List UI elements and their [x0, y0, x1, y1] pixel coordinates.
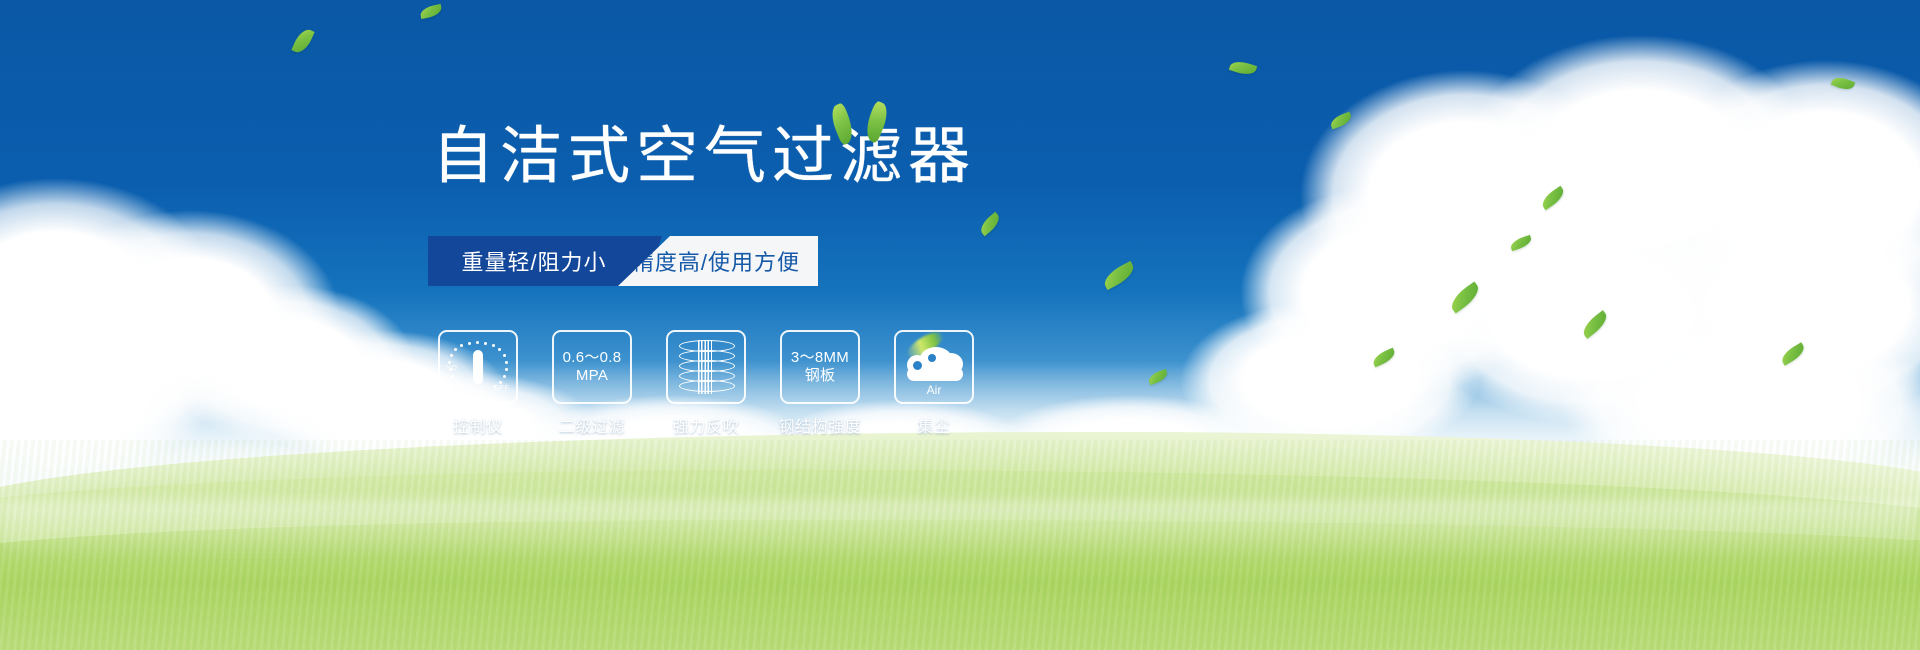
feature-item[interactable]: 3～8MM 钢板 钢结构强度 — [776, 330, 864, 437]
feature-caption: 强力反吹 — [673, 413, 739, 437]
gauge-needle — [473, 350, 483, 384]
feature-icon-box — [666, 330, 746, 404]
air-cloud-icon: Air — [903, 339, 965, 395]
product-banner: 自洁式空气过滤器 重量轻/阻力小 精度高/使用方便 — [0, 0, 1920, 650]
feature-caption: 控制仪 — [453, 413, 503, 437]
badge-dark: 重量轻/阻力小 — [428, 236, 640, 286]
steel-plate-value-icon: 3～8MM 钢板 — [791, 349, 849, 386]
feature-caption: 集尘 — [917, 413, 950, 437]
feature-icon-box: Air — [894, 330, 974, 404]
feature-icon-box: 3～8MM 钢板 — [780, 330, 860, 404]
feature-icon-box: 0.6～0.8 MPA — [552, 330, 632, 404]
feature-item[interactable]: NO OFF 控制仪 — [434, 330, 522, 437]
feature-icon-row: NO OFF 控制仪 0.6～0.8 MPA 二级过滤 — [434, 330, 978, 437]
cloud-hole — [928, 354, 936, 362]
air-label: Air — [903, 383, 965, 397]
feature-caption: 钢结构强度 — [778, 413, 861, 437]
sprout-leaf-right — [861, 100, 892, 143]
sprout-leaves-icon — [828, 100, 898, 146]
feature-item[interactable]: Air 集尘 — [890, 330, 978, 437]
gauge-max-label: OFF — [494, 385, 509, 392]
pressure-value-icon: 0.6～0.8 MPA — [563, 349, 622, 386]
sprout-leaf-left — [827, 102, 858, 145]
feature-caption: 二级过滤 — [559, 413, 625, 437]
gauge-dial-icon: NO OFF — [448, 338, 508, 396]
filter-stack-icon — [678, 338, 734, 396]
feature-item[interactable]: 0.6～0.8 MPA 二级过滤 — [548, 330, 636, 437]
cloud-hole — [913, 361, 922, 370]
feature-icon-box: NO OFF — [438, 330, 518, 404]
feature-item[interactable]: 强力反吹 — [662, 330, 750, 437]
filter-disc — [679, 380, 735, 392]
banner-content: 自洁式空气过滤器 重量轻/阻力小 精度高/使用方便 — [0, 0, 1920, 650]
gauge-min-label: NO — [446, 365, 457, 372]
